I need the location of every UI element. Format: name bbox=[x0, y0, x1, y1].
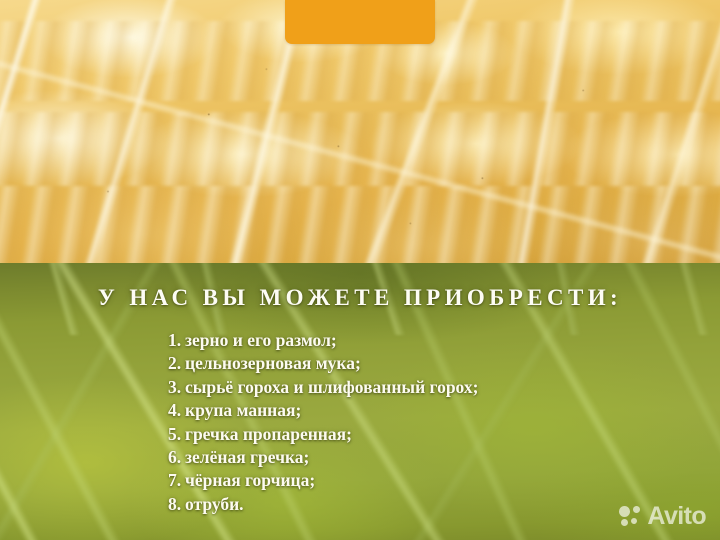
list-item-number: 7. bbox=[168, 469, 185, 492]
list-item-number: 5. bbox=[168, 423, 185, 446]
list-item-number: 4. bbox=[168, 399, 185, 422]
list-item: 3.сырьё гороха и шлифованный горох; bbox=[0, 376, 720, 399]
list-item: 2.цельнозерновая мука; bbox=[0, 352, 720, 375]
list-item: 6.зелёная гречка; bbox=[0, 446, 720, 469]
list-item-number: 6. bbox=[168, 446, 185, 469]
list-item-label: крупа манная; bbox=[185, 400, 301, 420]
list-item-label: гречка пропаренная; bbox=[185, 424, 352, 444]
list-item-label: чёрная горчица; bbox=[185, 470, 315, 490]
offer-list: 1.зерно и его размол; 2.цельнозерновая м… bbox=[0, 329, 720, 516]
list-item: 8.отруби. bbox=[0, 493, 720, 516]
list-item-label: зелёная гречка; bbox=[185, 447, 309, 467]
list-item-number: 1. bbox=[168, 329, 185, 352]
ad-image: У НАС ВЫ МОЖЕТЕ ПРИОБРЕСТИ: 1.зерно и ег… bbox=[0, 0, 720, 540]
avito-watermark: Avito bbox=[619, 504, 706, 529]
list-item-number: 8. bbox=[168, 493, 185, 516]
list-item: 5.гречка пропаренная; bbox=[0, 423, 720, 446]
offer-heading: У НАС ВЫ МОЖЕТЕ ПРИОБРЕСТИ: bbox=[0, 285, 720, 311]
orange-tab-badge bbox=[285, 0, 435, 44]
list-item-label: зерно и его размол; bbox=[185, 330, 337, 350]
list-item: 7.чёрная горчица; bbox=[0, 469, 720, 492]
list-item-label: отруби. bbox=[185, 494, 244, 514]
list-item-number: 2. bbox=[168, 352, 185, 375]
list-item-number: 3. bbox=[168, 376, 185, 399]
list-item-label: цельнозерновая мука; bbox=[185, 353, 361, 373]
list-item-label: сырьё гороха и шлифованный горох; bbox=[185, 377, 478, 397]
list-item: 1.зерно и его размол; bbox=[0, 329, 720, 352]
avito-wordmark: Avito bbox=[647, 504, 706, 529]
avito-dots-logo-icon bbox=[619, 505, 642, 528]
list-item: 4.крупа манная; bbox=[0, 399, 720, 422]
